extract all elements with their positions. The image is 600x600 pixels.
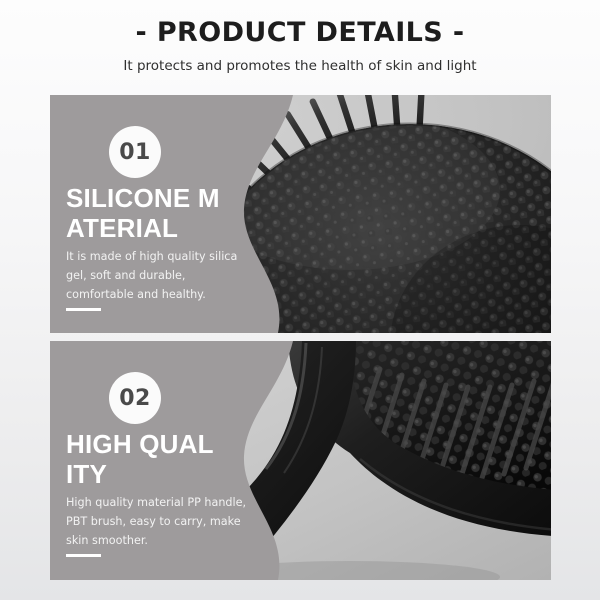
panel-2-body-text: High quality material PP handle, PBT bru… xyxy=(66,493,251,550)
panel-2-rule xyxy=(66,554,101,557)
page-title: - PRODUCT DETAILS - xyxy=(0,0,600,48)
panel-2-number-badge: 02 xyxy=(109,372,161,424)
product-details-page: - PRODUCT DETAILS - It protects and prom… xyxy=(0,0,600,600)
detail-panel-2: 02 HIGH QUAL ITY High quality material P… xyxy=(50,341,551,580)
panel-2-content: 02 HIGH QUAL ITY High quality material P… xyxy=(66,341,266,580)
panel-1-rule xyxy=(66,308,101,311)
panel-2-heading: HIGH QUAL ITY xyxy=(66,429,276,489)
panel-1-content: 01 SILICONE M ATERIAL It is made of high… xyxy=(66,95,266,333)
header: - PRODUCT DETAILS - It protects and prom… xyxy=(0,0,600,74)
panel-1-number-badge: 01 xyxy=(109,126,161,178)
panel-1-heading: SILICONE M ATERIAL xyxy=(66,183,276,243)
detail-panel-1: 01 SILICONE M ATERIAL It is made of high… xyxy=(50,95,551,333)
page-subtitle: It protects and promotes the health of s… xyxy=(0,48,600,74)
panel-1-body-text: It is made of high quality silica gel, s… xyxy=(66,247,251,304)
